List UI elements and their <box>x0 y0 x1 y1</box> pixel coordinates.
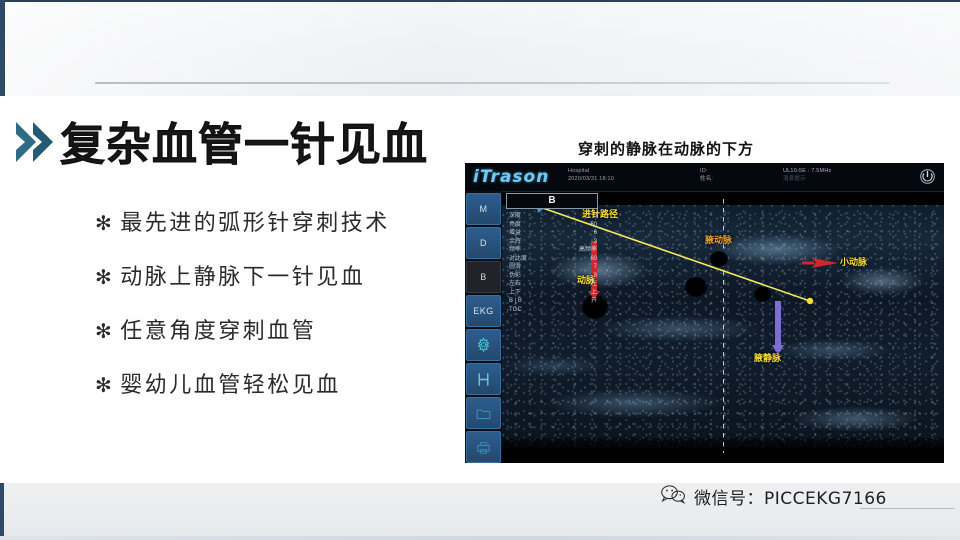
bullet-text: 任意角度穿刺血管 <box>120 313 316 345</box>
bullet-list: ✻ 最先进的弧形针穿刺技术 ✻ 动脉上静脉下一针见血 ✻ 任意角度穿刺血管 ✻ … <box>95 205 455 421</box>
top-horizontal-rule <box>95 82 890 84</box>
axillary-vein-label: 腋静脉 <box>754 351 781 364</box>
sidebar-item-d[interactable]: D <box>466 227 501 259</box>
param-row: TGC <box>506 306 600 315</box>
sidebar-item-printer[interactable] <box>466 431 501 463</box>
param-label: 频率 <box>509 246 521 255</box>
page-title: 复杂血管一针见血 <box>60 108 428 173</box>
chevron-double-right-icon <box>14 120 66 164</box>
sidebar-item-ekg[interactable]: EKG <box>466 295 501 327</box>
probe-info: UL10-5E : 7.5MHz 消息提示 <box>783 167 831 183</box>
left-accent-strip <box>0 0 5 96</box>
bottom-left-accent-strip <box>0 483 4 540</box>
param-label: 深度 <box>509 212 521 221</box>
param-value: 左 <box>591 280 597 289</box>
param-label: TGC <box>509 306 522 315</box>
sidebar-item-gear[interactable] <box>466 329 501 361</box>
patient-id-label: ID: <box>700 167 713 175</box>
sidebar-item-m[interactable]: M <box>466 193 501 225</box>
param-row: B | B开 <box>506 297 600 306</box>
list-item: ✻ 任意角度穿刺血管 <box>95 313 455 345</box>
wechat-icon <box>660 484 686 509</box>
device-brand-logo: iTrason <box>473 167 549 187</box>
slide-canvas: 复杂血管一针见血 ✻ 最先进的弧形针穿刺技术 ✻ 动脉上静脉下一针见血 ✻ 任意… <box>0 0 960 540</box>
bullet-star-icon: ✻ <box>95 211 114 235</box>
param-row: 深度3 <box>506 212 600 221</box>
wechat-footer: 微信号：PICCEKG7166 <box>660 484 887 509</box>
sidebar-item-b[interactable]: B <box>466 261 501 293</box>
param-label: B | B <box>509 297 522 306</box>
patient-name-label: 姓名: <box>700 175 713 183</box>
param-value: 7 <box>594 263 597 272</box>
sidebar-item-folder[interactable] <box>466 397 501 429</box>
param-value: 开 <box>591 297 597 306</box>
param-value: 50 <box>590 221 597 230</box>
small-artery-label: 小动脉 <box>840 255 867 268</box>
ultrasound-caption: 穿刺的静脉在动脉的下方 <box>578 138 754 159</box>
sidebar-item-measure[interactable] <box>466 363 501 395</box>
hospital-label: Hospital <box>568 167 614 175</box>
list-item: ✻ 婴幼儿血管轻松见血 <box>95 367 455 399</box>
patient-info: ID: 姓名: <box>700 167 713 183</box>
measure-icon <box>475 371 492 388</box>
bullet-text: 婴幼儿血管轻松见血 <box>120 367 341 399</box>
param-value: 3 <box>594 212 597 221</box>
param-row: 频率高频率 <box>506 246 600 255</box>
power-icon[interactable] <box>919 168 936 185</box>
ultrasound-header-bar: iTrason Hospital 2020/03/31 18:10 ID: 姓名… <box>465 163 944 192</box>
param-row: 伪彩8 <box>506 272 600 281</box>
param-row: 上下上 <box>506 289 600 298</box>
exam-datetime: 2020/03/31 18:10 <box>568 175 614 183</box>
param-row: 增益6 <box>506 229 600 238</box>
top-edge-line <box>0 0 960 2</box>
param-label: 余辉 <box>509 238 521 247</box>
param-label: 上下 <box>509 289 521 298</box>
param-value: 上 <box>591 289 597 298</box>
param-label: 伪彩 <box>509 272 521 281</box>
probe-sub-text: 消息提示 <box>783 175 831 183</box>
bullet-star-icon: ✻ <box>95 265 114 289</box>
param-row: 余辉3 <box>506 238 600 247</box>
param-label: 左右 <box>509 280 521 289</box>
mode-indicator: B <box>506 193 598 209</box>
param-value: 8 <box>594 272 597 281</box>
hospital-info: Hospital 2020/03/31 18:10 <box>568 167 614 183</box>
bullet-star-icon: ✻ <box>95 373 114 397</box>
param-value: 3 <box>594 238 597 247</box>
axillary-artery-label: 腋动脉 <box>705 233 732 246</box>
list-item: ✻ 最先进的弧形针穿刺技术 <box>95 205 455 237</box>
ultrasound-sidebar: M D B EKG <box>465 191 502 463</box>
param-row: 对比度60 <box>506 255 600 264</box>
param-row: 圆滑7 <box>506 263 600 272</box>
parameter-panel: B 深度3 亮度50 增益6 余辉3 频率高频率 对比度60 圆滑7 伪彩8 左… <box>506 193 600 314</box>
small-artery-arrow <box>802 257 838 269</box>
folder-icon <box>475 406 492 421</box>
printer-icon <box>475 440 492 455</box>
bullet-text: 动脉上静脉下一针见血 <box>120 259 365 291</box>
probe-model: UL10-5E : 7.5MHz <box>783 167 831 175</box>
param-label: 圆滑 <box>509 263 521 272</box>
list-item: ✻ 动脉上静脉下一针见血 <box>95 259 455 291</box>
param-label: 对比度 <box>509 255 527 264</box>
gear-icon <box>474 336 493 355</box>
param-row: 左右左 <box>506 280 600 289</box>
bullet-text: 最先进的弧形针穿刺技术 <box>120 205 390 237</box>
bottom-base-strip <box>0 536 960 540</box>
ultrasound-screenshot: 进针路径 腋动脉 小动脉 动脉 腋静脉 iTrason Hospital 202… <box>465 163 944 463</box>
param-value: 6 <box>594 229 597 238</box>
param-label: 增益 <box>509 229 521 238</box>
param-value: 高频率 <box>579 246 597 255</box>
param-row: 亮度50 <box>506 221 600 230</box>
param-value: 60 <box>590 255 597 264</box>
param-label: 亮度 <box>509 221 521 230</box>
wechat-id-text: 微信号：PICCEKG7166 <box>694 484 887 509</box>
bullet-star-icon: ✻ <box>95 319 114 343</box>
